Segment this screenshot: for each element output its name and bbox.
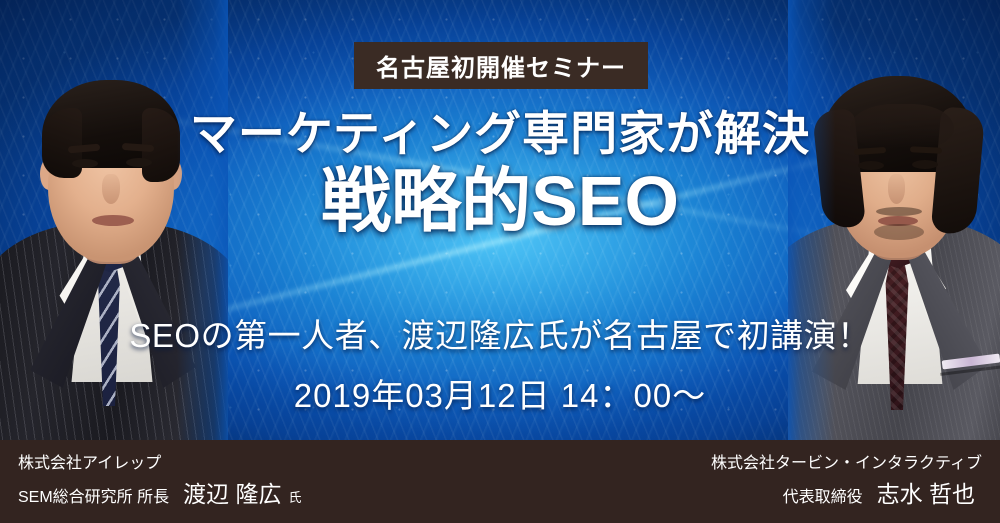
seminar-badge-label: 名古屋初開催セミナー: [376, 48, 626, 83]
headline-line-1: マーケティング専門家が解決: [0, 108, 1000, 160]
footer-left-company: 株式会社アイレップ: [18, 452, 302, 477]
subtitle-line-1: SEOの第一人者、渡辺隆広氏が名古屋で初講演！: [0, 309, 1000, 357]
footer-right-title: 代表取締役: [783, 486, 863, 510]
footer-speaker-right: 株式会社タービン・インタラクティブ 代表取締役 志水 哲也: [711, 452, 982, 511]
footer-speaker-left: 株式会社アイレップ SEM総合研究所 所長 渡辺 隆広 氏: [18, 452, 302, 511]
speaker-footer-bar: 株式会社アイレップ SEM総合研究所 所長 渡辺 隆広 氏 株式会社タービン・イ…: [0, 440, 1000, 523]
footer-left-name: 渡辺 隆広: [173, 477, 281, 512]
subtitle-block: SEOの第一人者、渡辺隆広氏が名古屋で初講演！ 2019年03月12日 14：0…: [0, 309, 1000, 417]
headline-block: マーケティング専門家が解決 戦略的SEO: [0, 108, 1000, 240]
footer-right-name: 志水 哲也: [867, 477, 975, 512]
footer-left-title: SEM総合研究所 所長: [18, 486, 169, 510]
headline-line-2: 戦略的SEO: [0, 162, 1000, 240]
footer-right-name-row: 代表取締役 志水 哲也: [711, 477, 982, 512]
footer-left-name-suffix: 氏: [286, 488, 302, 508]
seminar-banner: 名古屋初開催セミナー マーケティング専門家が解決 戦略的SEO SEOの第一人者…: [0, 0, 1000, 523]
footer-left-name-row: SEM総合研究所 所長 渡辺 隆広 氏: [18, 477, 302, 512]
event-datetime: 2019年03月12日 14：00〜: [0, 369, 1000, 417]
seminar-badge: 名古屋初開催セミナー: [354, 42, 648, 89]
footer-right-company: 株式会社タービン・インタラクティブ: [711, 452, 982, 477]
